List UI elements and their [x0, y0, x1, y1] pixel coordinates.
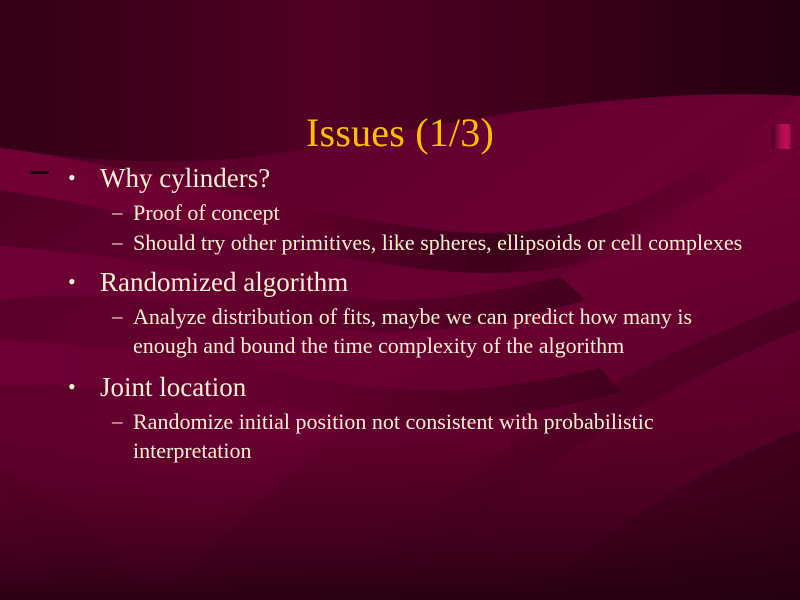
- bullet-group-1: • Why cylinders? – Proof of concept – Sh…: [62, 160, 762, 257]
- slide-body: • Why cylinders? – Proof of concept – Sh…: [62, 160, 762, 466]
- bullet-marker-icon: •: [68, 369, 76, 405]
- bullet-level2-1-1-text: Proof of concept: [133, 198, 762, 227]
- spacer: [62, 361, 762, 369]
- bullet-level2-3-1: – Randomize initial position not consist…: [62, 407, 762, 465]
- dash-marker-icon: –: [112, 198, 123, 227]
- bullet-level1-2-text: Randomized algorithm: [100, 264, 762, 300]
- slide-title: Issues (1/3): [0, 109, 800, 157]
- bullet-level2-1-1: – Proof of concept: [62, 198, 762, 227]
- bullet-level1-1: • Why cylinders?: [62, 160, 762, 196]
- dash-marker-icon: –: [112, 302, 123, 331]
- bullet-level1-3: • Joint location: [62, 369, 762, 405]
- bullet-level2-2-1: – Analyze distribution of fits, maybe we…: [62, 302, 762, 360]
- bullet-level1-2: • Randomized algorithm: [62, 264, 762, 300]
- bullet-level1-3-text: Joint location: [100, 369, 762, 405]
- bullet-level2-1-2: – Should try other primitives, like sphe…: [62, 228, 762, 257]
- bullet-level2-3-1-text: Randomize initial position not consisten…: [133, 407, 762, 465]
- dash-marker-icon: –: [112, 407, 123, 436]
- bullet-level1-1-text: Why cylinders?: [100, 160, 762, 196]
- bullet-group-2: • Randomized algorithm – Analyze distrib…: [62, 264, 762, 360]
- presentation-slide: Issues (1/3) • Why cylinders? – Proof of…: [0, 0, 800, 600]
- bullet-level2-1-2-text: Should try other primitives, like sphere…: [133, 228, 762, 257]
- bullet-group-3: • Joint location – Randomize initial pos…: [62, 369, 762, 465]
- bullet-marker-icon: •: [68, 264, 76, 300]
- dash-marker-icon: –: [112, 228, 123, 257]
- bullet-level2-2-1-text: Analyze distribution of fits, maybe we c…: [133, 302, 762, 360]
- bullet-marker-icon: •: [68, 160, 76, 196]
